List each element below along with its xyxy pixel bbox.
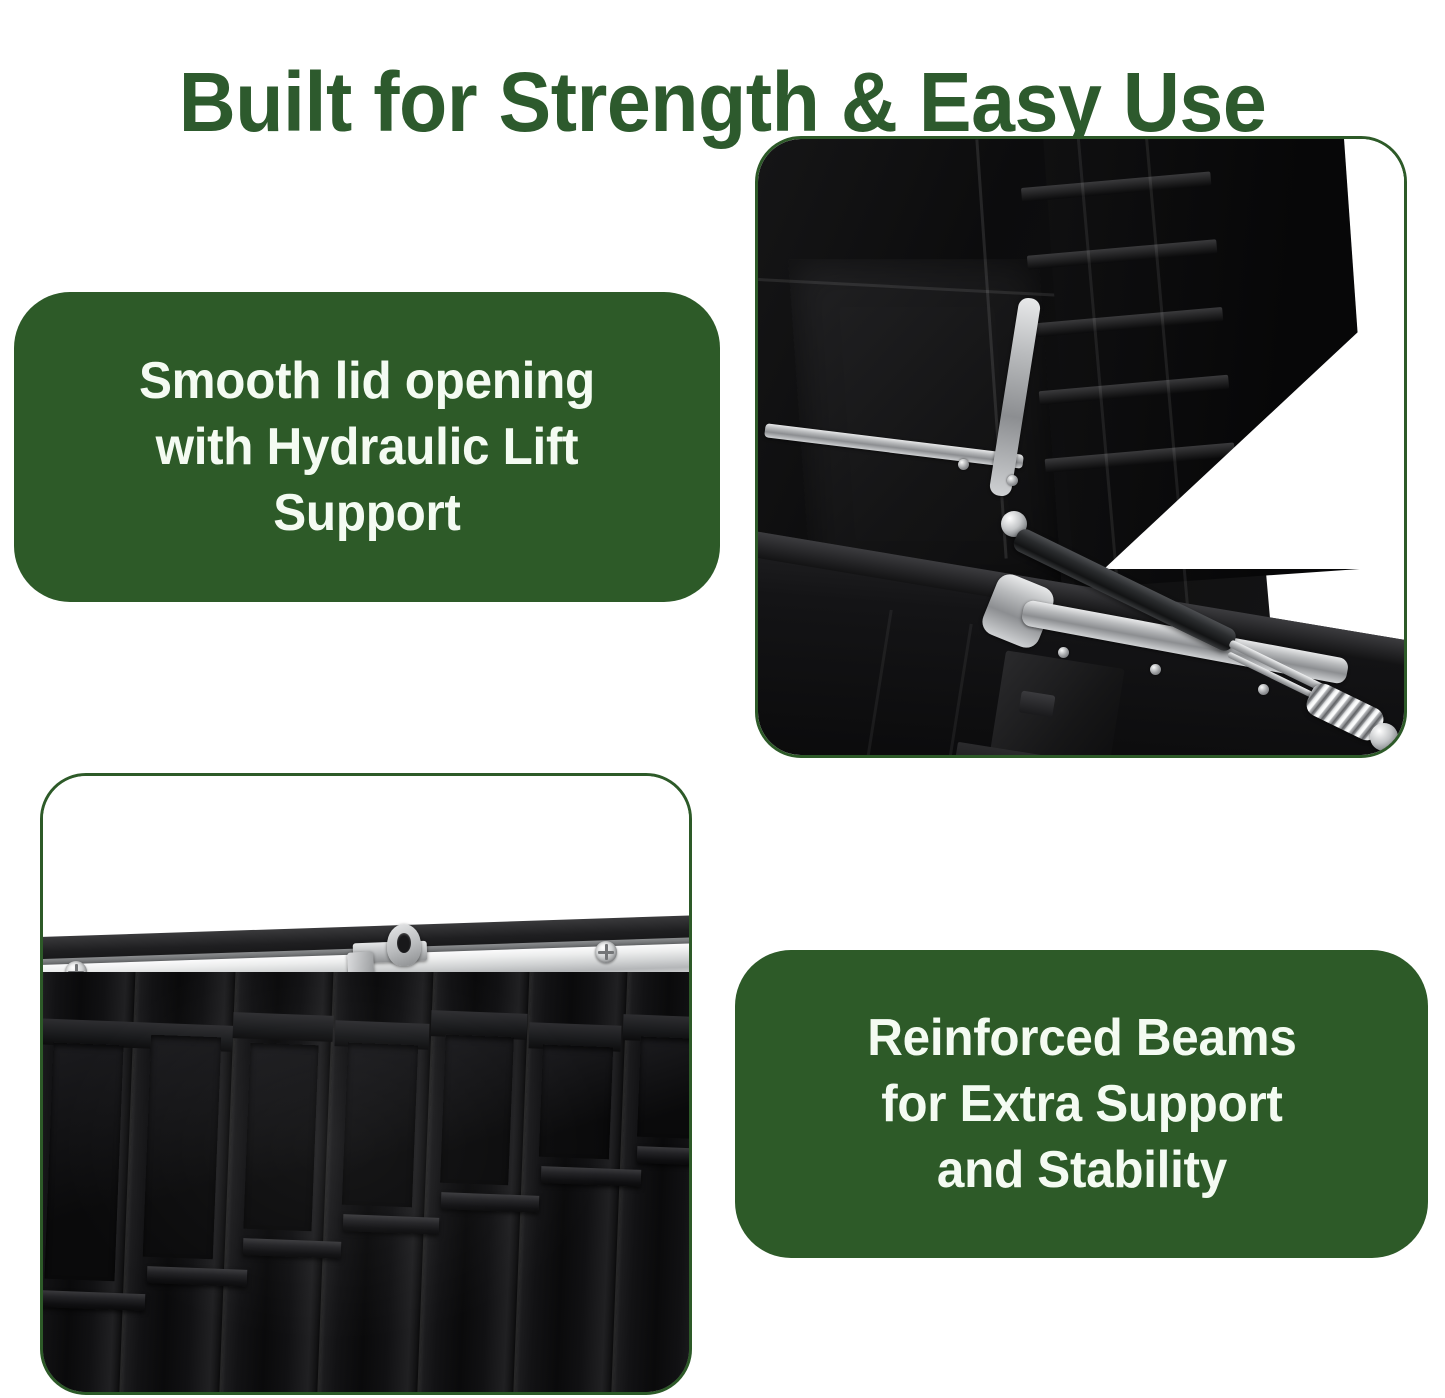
callout-line-1: Smooth lid opening <box>139 352 595 410</box>
callout-line-2: with Hydraulic Lift <box>156 418 579 476</box>
support-stay-rivet <box>1007 475 1018 486</box>
cross-bar-rivet <box>958 459 969 470</box>
reinforced-beam-field <box>43 972 689 1392</box>
beam-cross-shelf <box>233 1012 334 1042</box>
callout-hydraulic-lift-text: Smooth lid opening with Hydraulic Lift S… <box>111 348 624 546</box>
lift-arm-rivet <box>1258 684 1269 695</box>
beam-recess-cell <box>243 1043 318 1231</box>
lid-rib-shelf <box>1045 442 1235 473</box>
lid-rib-shelf <box>1039 375 1229 406</box>
beam-recess-cell <box>539 1045 613 1160</box>
beam-recess-cell <box>44 1043 123 1282</box>
lift-arm-rivet <box>1150 664 1161 675</box>
beam-recess-cell <box>637 1037 689 1140</box>
beam-cross-shelf <box>343 1214 440 1235</box>
lid-rib-shelf <box>1033 307 1223 338</box>
photo-panel-reinforced-beams <box>40 773 692 1395</box>
lid-rib-shelf <box>1021 171 1211 202</box>
callout-line-2: for Extra Support <box>881 1075 1282 1133</box>
hydraulic-lift-photo <box>758 139 1404 755</box>
callout-reinforced-beams-text: Reinforced Beams for Extra Support and S… <box>840 1005 1322 1203</box>
lid-hinge-block <box>987 650 1124 755</box>
lift-arm-rivet <box>1058 647 1069 658</box>
rail-screw <box>595 941 617 963</box>
callout-line-3: Support <box>273 484 460 542</box>
reinforced-beams-photo <box>43 776 689 1392</box>
lid-rib-shelf <box>1027 239 1217 270</box>
callout-hydraulic-lift: Smooth lid opening with Hydraulic Lift S… <box>14 292 720 602</box>
beam-recess-cell <box>440 1035 514 1186</box>
callout-line-1: Reinforced Beams <box>867 1009 1296 1067</box>
callout-reinforced-beams: Reinforced Beams for Extra Support and S… <box>735 950 1428 1258</box>
photo-panel-hydraulic-lift <box>755 136 1407 758</box>
beam-recess-cell <box>342 1043 418 1208</box>
spring-end-cap <box>1370 723 1398 751</box>
bracket-eyelet <box>387 924 421 966</box>
beam-recess-cell <box>143 1035 221 1260</box>
callout-line-3: and Stability <box>936 1141 1226 1199</box>
